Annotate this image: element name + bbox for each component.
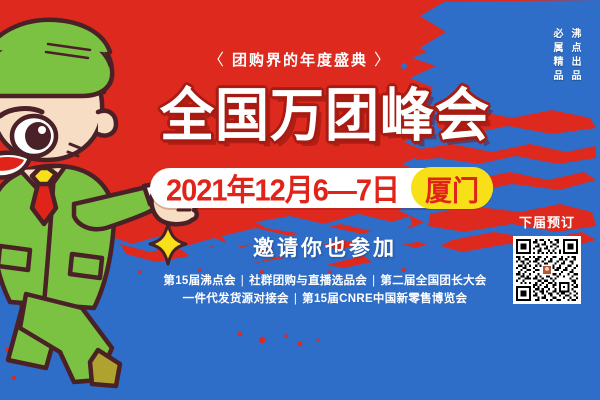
date-banner: 2021年12月6—7日 厦门 xyxy=(150,168,493,208)
sub-event-item: 第15届沸点会 xyxy=(163,275,235,287)
sub-event-line-1: 第15届沸点会|社群团购与直播选品会|第二届全国团长大会 xyxy=(150,272,500,290)
sub-event-list: 第15届沸点会|社群团购与直播选品会|第二届全国团长大会 一件代发货源对接会|第… xyxy=(150,272,500,308)
kicker-text: 团购界的年度盛典 xyxy=(232,52,368,69)
sub-event-item: 第15届CNRE中国新零售博览会 xyxy=(302,293,467,305)
bracket-left-icon: 〈 xyxy=(202,52,232,69)
event-city-badge: 厦门 xyxy=(411,167,493,209)
event-date: 2021年12月6—7日 xyxy=(150,167,411,209)
separator: | xyxy=(367,275,380,287)
vertical-slogan-col-1: 沸点出品 xyxy=(567,28,582,84)
vertical-slogan: 沸点出品 必属精品 xyxy=(549,28,582,84)
sub-event-line-2: 一件代发货源对接会|第15届CNRE中国新零售博览会 xyxy=(150,290,500,308)
separator: | xyxy=(289,293,302,305)
sub-event-item: 第二届全国团长大会 xyxy=(380,275,486,287)
bracket-right-icon: 〉 xyxy=(368,52,398,69)
poster-canvas: 〈团购界的年度盛典〉 全国万团峰会 2021年12月6—7日 厦门 邀请你也参加… xyxy=(0,0,600,400)
invite-text: 邀请你也参加 xyxy=(150,232,500,262)
vertical-slogan-col-2: 必属精品 xyxy=(549,28,564,84)
qr-booking-block[interactable]: 下届预订 xyxy=(508,212,586,304)
sub-event-item: 社群团购与直播选品会 xyxy=(249,275,367,287)
qr-code-image[interactable] xyxy=(513,236,581,304)
separator: | xyxy=(236,275,249,287)
sub-event-item: 一件代发货源对接会 xyxy=(183,293,289,305)
qr-label: 下届预订 xyxy=(508,212,586,231)
kicker-line: 〈团购界的年度盛典〉 xyxy=(0,46,600,70)
page-title: 全国万团峰会 xyxy=(150,84,500,148)
